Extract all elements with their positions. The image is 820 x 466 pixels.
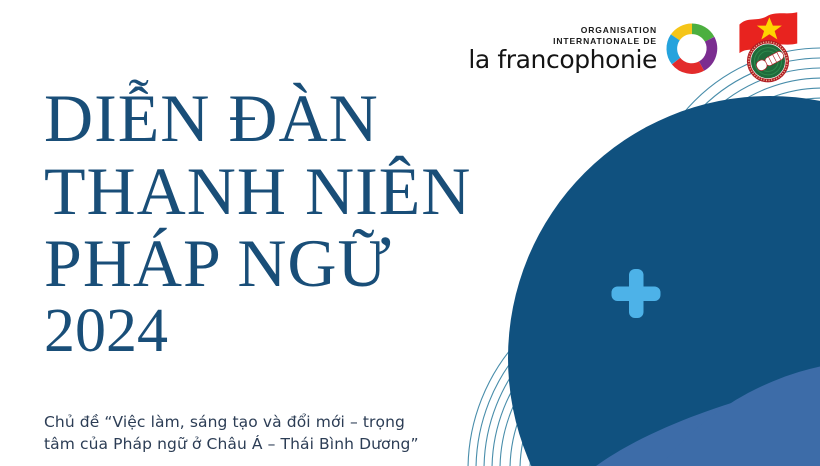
hcm-youth-union-emblem-icon — [734, 8, 802, 90]
oif-supertext-line2: INTERNATIONALE DE — [553, 37, 657, 46]
oif-supertext-line1: ORGANISATION — [581, 26, 657, 35]
oif-wordmark: ORGANISATION INTERNATIONALE DE la franco… — [468, 26, 657, 72]
oif-wordmark-text: la francophonie — [468, 47, 657, 72]
poster-canvas: ORGANISATION INTERNATIONALE DE la franco… — [0, 0, 820, 466]
oif-ring-icon — [664, 21, 720, 77]
subtitle-block: Chủ đề “Việc làm, sáng tạo và đổi mới – … — [44, 411, 474, 456]
page-title: DIỄN ĐÀN THANH NIÊN PHÁP NGỮ 2024 — [44, 86, 471, 361]
title-line-3: PHÁP NGỮ — [44, 231, 471, 296]
oif-logo: ORGANISATION INTERNATIONALE DE la franco… — [468, 21, 720, 77]
title-line-year: 2024 — [44, 302, 471, 361]
title-line-1: DIỄN ĐÀN — [44, 86, 471, 151]
subtitle-line-2: tâm của Pháp ngữ ở Châu Á – Thái Bình Dư… — [44, 433, 474, 455]
title-line-2: THANH NIÊN — [44, 159, 471, 224]
subtitle-line-1: Chủ đề “Việc làm, sáng tạo và đổi mới – … — [44, 411, 474, 433]
logo-strip: ORGANISATION INTERNATIONALE DE la franco… — [468, 8, 802, 90]
